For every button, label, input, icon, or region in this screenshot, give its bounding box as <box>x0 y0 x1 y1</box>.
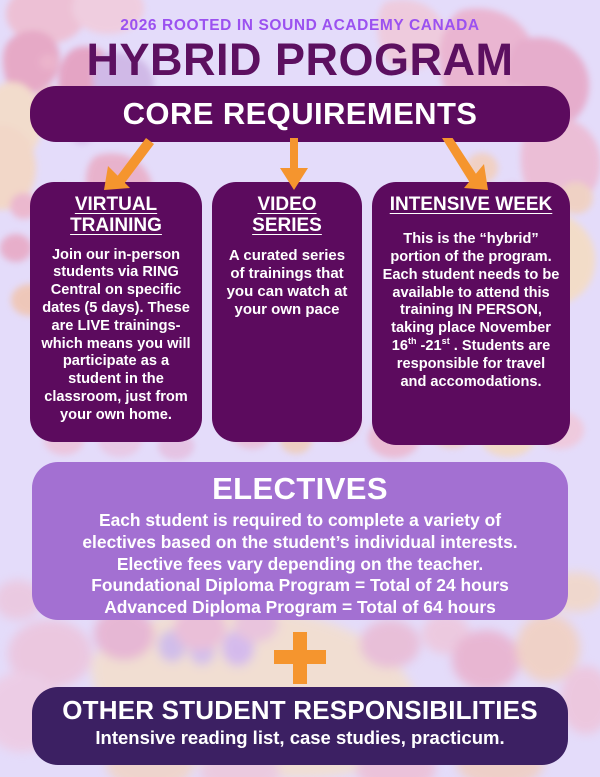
plus-icon <box>272 632 328 684</box>
arrow-to-virtual-training-icon <box>100 138 160 192</box>
intensive-body-part-2: -21 <box>417 338 442 354</box>
card-virtual-training: VIRTUAL TRAINING Join our in-person stud… <box>30 182 202 442</box>
poster-content: 2026 ROOTED IN SOUND ACADEMY CANADA HYBR… <box>0 0 600 777</box>
intensive-date-suffix-16th: th <box>408 336 417 346</box>
arrow-to-intensive-week-icon <box>438 138 496 192</box>
card-intensive-week: INTENSIVE WEEK This is the “hybrid” port… <box>372 182 570 445</box>
electives-body: Each student is required to complete a v… <box>44 510 556 619</box>
intensive-date-suffix-21st: st <box>442 336 450 346</box>
electives-line-5: Advanced Diploma Program = Total of 64 h… <box>44 597 556 619</box>
card-title-virtual-training: VIRTUAL TRAINING <box>40 194 192 237</box>
other-responsibilities-panel: OTHER STUDENT RESPONSIBILITIES Intensive… <box>32 687 568 765</box>
electives-panel: ELECTIVES Each student is required to co… <box>32 462 568 620</box>
electives-line-1: Each student is required to complete a v… <box>44 510 556 532</box>
electives-line-3: Elective fees vary depending on the teac… <box>44 554 556 576</box>
core-requirements-banner: CORE REQUIREMENTS <box>30 86 570 142</box>
card-title-intensive-week: INTENSIVE WEEK <box>382 194 560 215</box>
electives-title: ELECTIVES <box>44 472 556 506</box>
plus-connector <box>272 632 328 684</box>
card-body-video-series: A curated series of trainings that you c… <box>222 247 352 320</box>
card-body-virtual-training: Join our in-person students via RING Cen… <box>40 247 192 425</box>
card-title-video-series: VIDEO SERIES <box>222 194 352 237</box>
poster-eyebrow: 2026 ROOTED IN SOUND ACADEMY CANADA <box>0 17 600 35</box>
card-video-series: VIDEO SERIES A curated series of trainin… <box>212 182 362 442</box>
card-body-intensive-week: This is the “hybrid” portion of the prog… <box>382 231 560 391</box>
infographic-poster: 2026 ROOTED IN SOUND ACADEMY CANADA HYBR… <box>0 0 600 777</box>
electives-line-2: electives based on the student’s individ… <box>44 532 556 554</box>
arrow-to-video-series-icon <box>278 138 310 192</box>
page-title: HYBRID PROGRAM <box>0 36 600 83</box>
electives-line-4: Foundational Diploma Program = Total of … <box>44 575 556 597</box>
core-requirements-label: CORE REQUIREMENTS <box>123 96 478 132</box>
other-responsibilities-title: OTHER STUDENT RESPONSIBILITIES <box>32 696 568 725</box>
other-responsibilities-subtitle: Intensive reading list, case studies, pr… <box>32 727 568 749</box>
